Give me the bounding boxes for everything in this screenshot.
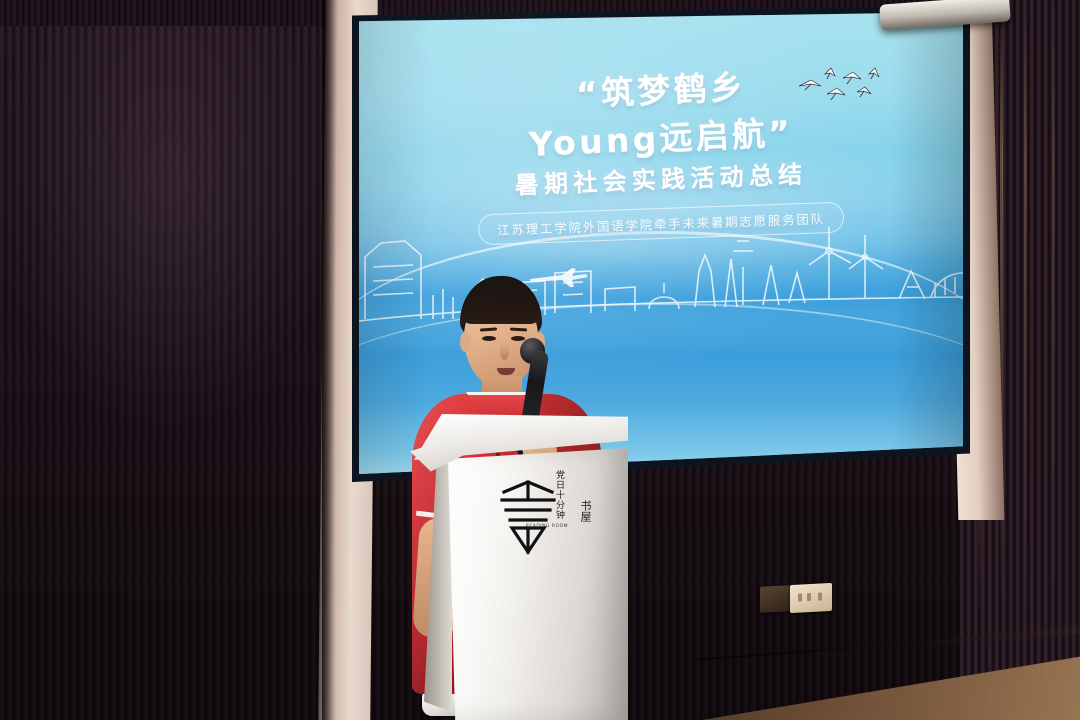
emblem-vertical-text: 党日十分钟 (548, 470, 564, 520)
podium: 党日十分钟 书屋 READING ROOM (414, 414, 628, 720)
presentation-photo: “筑梦鹤乡 Young远启航” 暑期社会实践活动总结 江苏理工学院外国语学院牵手… (0, 0, 1080, 720)
slide-title-line-1: “筑梦鹤乡 (575, 60, 747, 116)
emblem-side-text: 书屋 (576, 500, 592, 522)
wall-socket-light[interactable] (790, 583, 832, 613)
speaker-ear-left (460, 332, 471, 352)
podium-emblem: 党日十分钟 书屋 READING ROOM (498, 470, 594, 556)
slide-organization: 江苏理工学院外国语学院牵手未来暑期志愿服务团队 (478, 202, 845, 246)
left-pillar-shadow (322, 0, 336, 720)
podium-side-panel (424, 454, 452, 712)
speaker-eye-left (482, 336, 496, 341)
speaker-nose (500, 344, 509, 360)
speaker-eye-right (511, 336, 525, 341)
emblem-subtitle-text: READING ROOM (526, 524, 568, 529)
wall-socket-dark[interactable] (760, 585, 790, 613)
